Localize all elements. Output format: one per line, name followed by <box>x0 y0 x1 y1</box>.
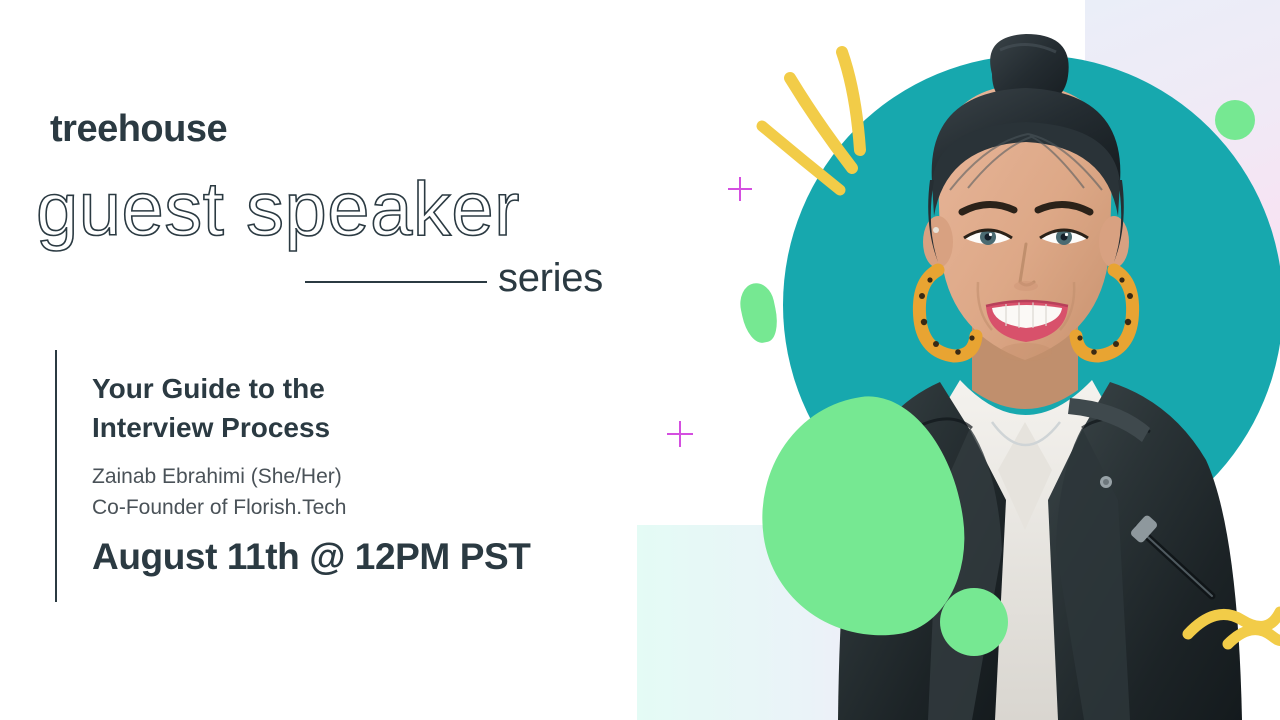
series-label: series <box>498 256 603 301</box>
talk-title-line-1: Your Guide to the <box>92 370 532 409</box>
page-title: guest speaker <box>36 166 520 253</box>
plus-mark-icon <box>667 421 693 447</box>
talk-title: Your Guide to the Interview Process <box>92 370 532 447</box>
speaker-role: Co-Founder of Florish.Tech <box>92 492 552 523</box>
talk-title-line-2: Interview Process <box>92 409 532 448</box>
green-blob-circle-shape <box>940 588 1008 656</box>
plus-mark-icon <box>728 177 752 201</box>
detail-accent-rule <box>55 350 57 602</box>
green-blob-small-shape <box>736 280 782 346</box>
event-datetime: August 11th @ 12PM PST <box>92 536 530 578</box>
series-divider-rule <box>305 281 487 283</box>
guest-speaker-promo-slide: treehouse guest speaker series Your Guid… <box>0 0 1280 720</box>
speaker-details: Zainab Ebrahimi (She/Her) Co-Founder of … <box>92 461 552 523</box>
speaker-name: Zainab Ebrahimi (She/Her) <box>92 461 552 492</box>
brand-wordmark: treehouse <box>50 108 227 151</box>
